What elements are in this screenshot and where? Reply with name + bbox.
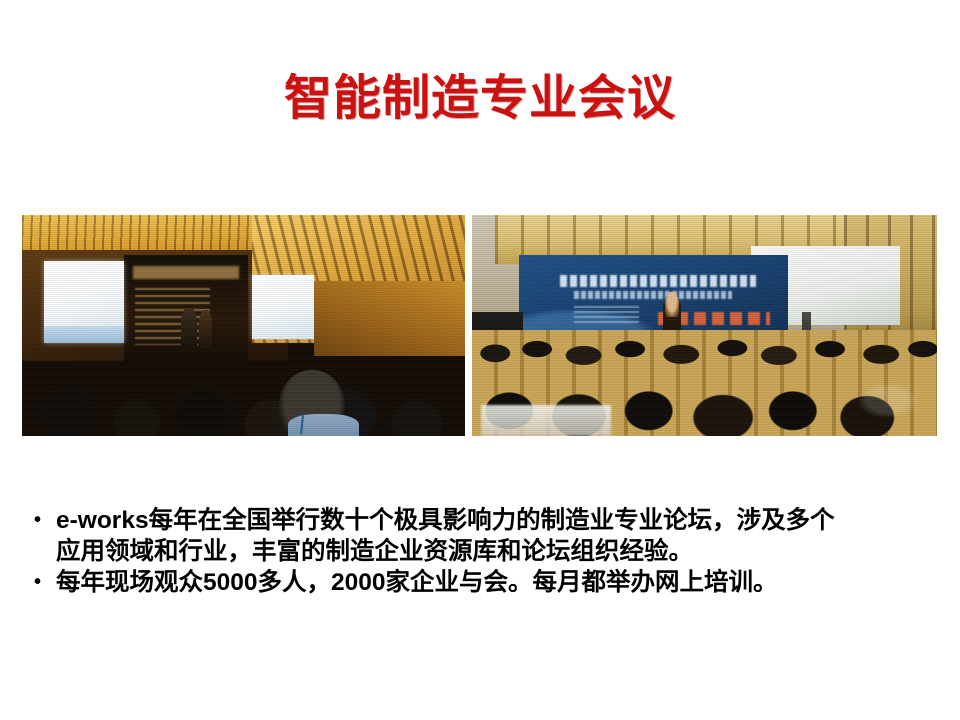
banner-detail-text — [574, 306, 639, 324]
presentation-slide: 智能制造专业会议 — [0, 0, 960, 720]
list-item-text: e-works每年在全国举行数十个极具影响力的制造业专业论坛，涉及多个 应用领域… — [56, 505, 936, 567]
front-table — [481, 405, 611, 436]
bullet-marker-icon: • — [28, 505, 56, 536]
list-item-line: e-works每年在全国举行数十个极具影响力的制造业专业论坛，涉及多个 — [56, 505, 936, 536]
conference-photo-left — [22, 215, 465, 436]
list-item-line: 每年现场观众5000多人，2000家企业与会。每月都举办网上培训。 — [56, 567, 936, 598]
banner-subline-text — [574, 291, 732, 299]
projection-screen-right — [252, 275, 314, 339]
stage-banner — [133, 266, 239, 279]
bullet-marker-icon: • — [28, 567, 56, 598]
list-item-line: 应用领域和行业，丰富的制造企业资源库和论坛组织经验。 — [56, 536, 936, 567]
list-item-text: 每年现场观众5000多人，2000家企业与会。每月都举办网上培训。 — [56, 567, 936, 598]
audience-heads — [22, 337, 465, 436]
speaker-at-podium — [665, 292, 679, 316]
conference-photo-right — [472, 215, 937, 436]
photo-watermark — [858, 383, 918, 418]
list-item: • 每年现场观众5000多人，2000家企业与会。每月都举办网上培训。 — [28, 567, 936, 598]
bullet-list: • e-works每年在全国举行数十个极具影响力的制造业专业论坛，涉及多个 应用… — [28, 505, 936, 598]
banner-headline-text — [560, 275, 755, 287]
list-item: • e-works每年在全国举行数十个极具影响力的制造业专业论坛，涉及多个 应用… — [28, 505, 936, 567]
page-title: 智能制造专业会议 — [0, 72, 960, 126]
attendee-lanyard — [300, 414, 339, 436]
